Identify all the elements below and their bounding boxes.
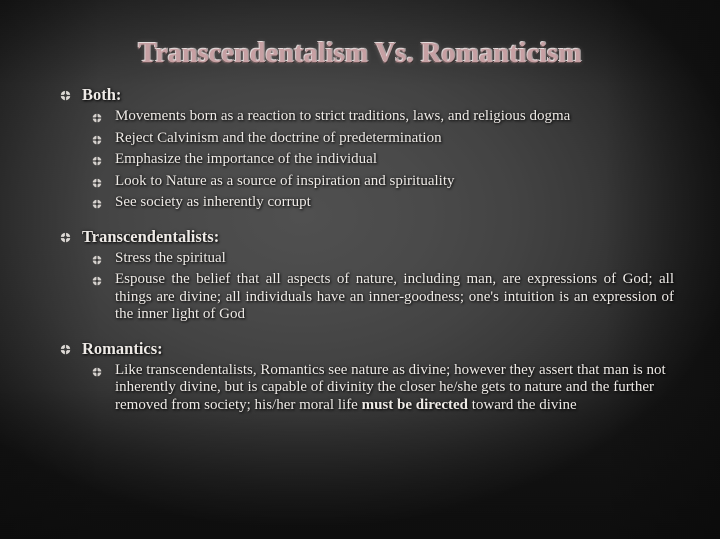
list-item-text: Movements born as a reaction to strict t… bbox=[115, 108, 720, 126]
list-item-text-emphasis: must be directed bbox=[362, 397, 468, 413]
section-both: Both: Movements born as a reaction to st… bbox=[0, 84, 720, 212]
wheel-bullet-icon bbox=[92, 250, 115, 265]
list-item-text: Emphasize the importance of the individu… bbox=[115, 151, 720, 169]
section-heading-both: Both: bbox=[82, 84, 121, 105]
section-heading-transcendentalists: Transcendentalists: bbox=[82, 226, 219, 247]
list-item-text: Reject Calvinism and the doctrine of pre… bbox=[115, 130, 720, 148]
list-item: Look to Nature as a source of inspiratio… bbox=[0, 173, 720, 191]
wheel-bullet-icon bbox=[92, 194, 115, 209]
section-transcendentalists: Transcendentalists: Stress the spiritual bbox=[0, 226, 720, 324]
list-item-text: Stress the spiritual bbox=[115, 250, 720, 268]
list-item: Like transcendentalists, Romantics see n… bbox=[0, 362, 720, 415]
list-item: See society as inherently corrupt bbox=[0, 194, 720, 212]
list-item-text: Like transcendentalists, Romantics see n… bbox=[115, 362, 720, 415]
section-heading-row: Both: bbox=[0, 84, 720, 105]
section-romantics: Romantics: Like transcendentalists, Roma… bbox=[0, 338, 720, 415]
slide-title: Transcendentalism Vs. Romanticism bbox=[0, 38, 720, 70]
list-item-text: Look to Nature as a source of inspiratio… bbox=[115, 173, 720, 191]
list-item-text-suffix: toward the divine bbox=[468, 397, 577, 413]
section-heading-romantics: Romantics: bbox=[82, 338, 163, 359]
wheel-bullet-icon bbox=[60, 338, 82, 355]
list-item-text: See society as inherently corrupt bbox=[115, 194, 720, 212]
section-heading-row: Romantics: bbox=[0, 338, 720, 359]
list-item: Emphasize the importance of the individu… bbox=[0, 151, 720, 169]
list-item: Stress the spiritual bbox=[0, 250, 720, 268]
wheel-bullet-icon bbox=[60, 84, 82, 101]
presentation-slide: Transcendentalism Vs. Romanticism Both: bbox=[0, 0, 720, 539]
list-item-text: Espouse the belief that all aspects of n… bbox=[115, 271, 720, 324]
list-item: Movements born as a reaction to strict t… bbox=[0, 108, 720, 126]
section-heading-row: Transcendentalists: bbox=[0, 226, 720, 247]
wheel-bullet-icon bbox=[60, 226, 82, 243]
wheel-bullet-icon bbox=[92, 362, 115, 377]
wheel-bullet-icon bbox=[92, 271, 115, 286]
slide-body: Both: Movements born as a reaction to st… bbox=[0, 84, 720, 418]
wheel-bullet-icon bbox=[92, 108, 115, 123]
wheel-bullet-icon bbox=[92, 130, 115, 145]
list-item: Reject Calvinism and the doctrine of pre… bbox=[0, 130, 720, 148]
wheel-bullet-icon bbox=[92, 151, 115, 166]
list-item: Espouse the belief that all aspects of n… bbox=[0, 271, 720, 324]
wheel-bullet-icon bbox=[92, 173, 115, 188]
slide-content: Transcendentalism Vs. Romanticism Both: bbox=[0, 0, 720, 539]
